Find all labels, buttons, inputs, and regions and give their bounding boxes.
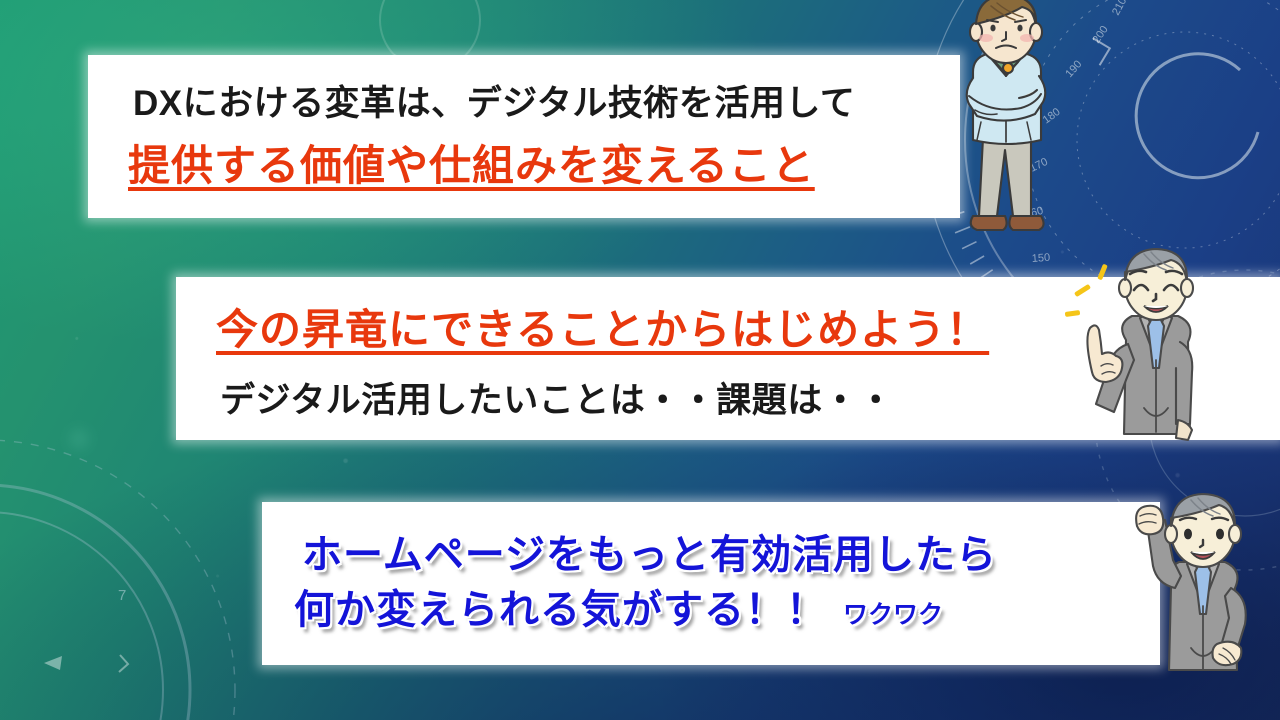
- card1-line1: DXにおける変革は、デジタル技術を活用して: [133, 75, 855, 126]
- card2-line1: 今の昇竜にできることからはじめよう！: [216, 296, 989, 357]
- card3-line1: ホームページをもっと有効活用したら: [302, 522, 997, 580]
- text-card-1: DXにおける変革は、デジタル技術を活用して 提供する価値や仕組みを変えること: [88, 55, 960, 218]
- character-senior-man-pointing-up: [1068, 248, 1240, 458]
- card3-line2: 何か変えられる気がする！！: [294, 577, 827, 635]
- card2-line2: デジタル活用したいことは・・課題は・・: [220, 372, 894, 423]
- card3-line2-row: 何か変えられる気がする！！ ワクワク: [294, 577, 943, 635]
- text-card-3: ホームページをもっと有効活用したら 何か変えられる気がする！！ ワクワク: [262, 502, 1160, 665]
- slide-canvas: 210 200 190 180 170 160 150 140 110 100 …: [0, 0, 1280, 720]
- card3-line3: ワクワク: [843, 595, 943, 631]
- card1-line2: 提供する価値や仕組みを変えること: [128, 132, 815, 193]
- character-worried-young-man: [935, 0, 1095, 240]
- background-bokeh: [70, 430, 88, 448]
- character-senior-man-fist-up: [1125, 478, 1280, 720]
